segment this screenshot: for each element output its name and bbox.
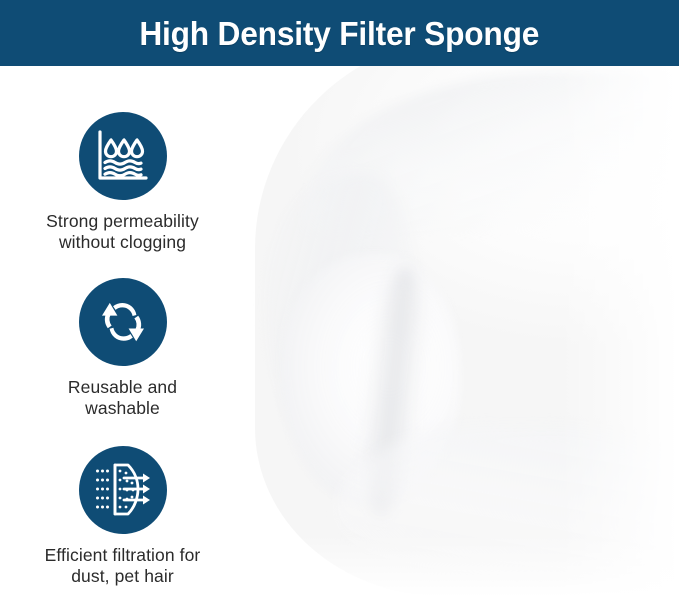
feature-item-permeability: Strong permeability without clogging [0,112,245,254]
photo-right-fade [559,66,679,604]
water-permeability-icon [79,112,167,200]
header-banner: High Density Filter Sponge [0,0,679,66]
page-title: High Density Filter Sponge [140,17,540,50]
feature-caption-filtration: Efficient filtration for dust, pet hair [0,545,245,588]
filtration-mesh-icon [79,446,167,534]
product-photo [215,66,679,604]
feature-item-filtration: Efficient filtration for dust, pet hair [0,446,245,588]
feature-caption-reusable: Reusable and washable [0,377,245,420]
content-area: Strong permeability without clogging [0,66,679,604]
feature-item-reusable: Reusable and washable [0,278,245,420]
recycle-arrows-icon [79,278,167,366]
photo-bottom-fade [215,534,679,604]
feature-list: Strong permeability without clogging [0,66,245,604]
feature-caption-permeability: Strong permeability without clogging [0,211,245,254]
